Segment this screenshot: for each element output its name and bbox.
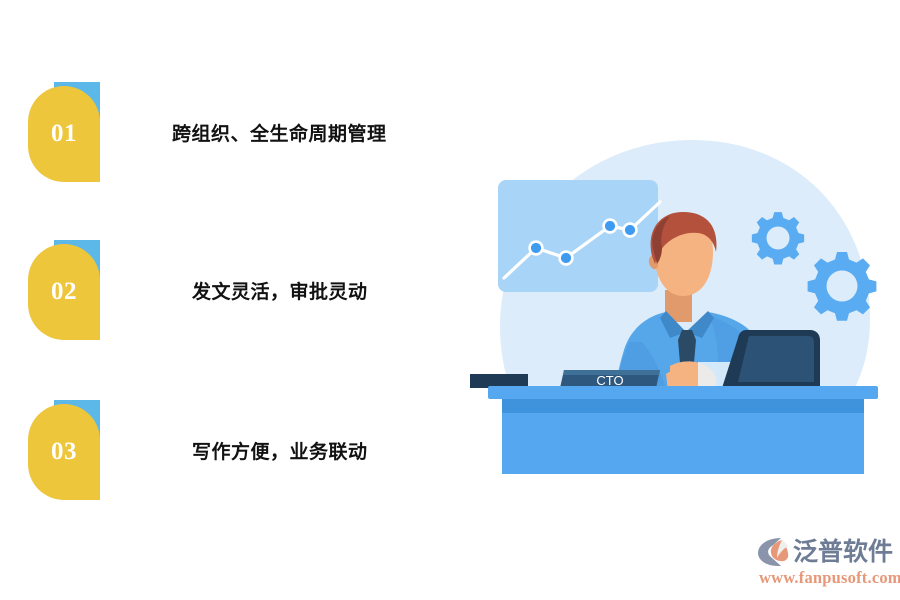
list-item[interactable]: 01 跨组织、全生命周期管理 [0, 82, 470, 182]
desk [488, 386, 878, 474]
step-badge-01: 01 [28, 82, 100, 182]
analytics-board [498, 180, 660, 292]
list-item[interactable]: 03 写作方便，业务联动 [0, 400, 470, 500]
brand-name: 泛普软件 [793, 537, 893, 567]
illustration-cto-at-desk: CTO [470, 130, 900, 480]
list-item[interactable]: 02 发文灵活，审批灵动 [0, 240, 470, 340]
feature-label: 跨组织、全生命周期管理 [172, 82, 387, 182]
desk-front [502, 413, 864, 474]
laptop-screen-highlight [738, 336, 814, 382]
feature-list: 01 跨组织、全生命周期管理 02 发文灵活，审批灵动 03 写作方便，业务联动 [0, 0, 470, 600]
gear-small-icon [752, 212, 804, 264]
feature-label: 写作方便，业务联动 [192, 400, 368, 500]
gear-large-icon [808, 252, 877, 321]
slide-canvas: 01 跨组织、全生命周期管理 02 发文灵活，审批灵动 03 写作方便，业务联动 [0, 0, 900, 600]
desk-top [488, 386, 878, 399]
step-badge-02: 02 [28, 240, 100, 340]
badge-number: 03 [28, 404, 100, 500]
step-badge-03: 03 [28, 400, 100, 500]
brand-url: www.fanpusoft.com [759, 568, 900, 588]
side-laptop [470, 374, 528, 388]
nameplate: CTO [560, 370, 660, 388]
desk-apron [502, 399, 864, 413]
badge-number: 02 [28, 244, 100, 340]
feature-label: 发文灵活，审批灵动 [192, 240, 368, 340]
nameplate-text: CTO [596, 373, 623, 388]
badge-number: 01 [28, 86, 100, 182]
fanpu-swoosh-logo-icon [757, 537, 791, 567]
brand-logo: 泛普软件 www.fanpusoft.com [757, 537, 897, 589]
